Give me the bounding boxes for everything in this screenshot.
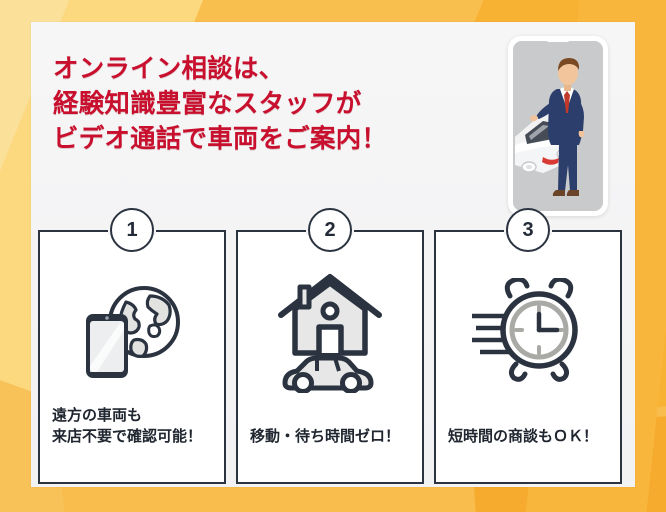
step-number-3: 3: [506, 208, 550, 252]
step-number-3-label: 3: [522, 219, 533, 242]
feature-card-2-text: 移動・待ち時間ゼロ！: [250, 426, 412, 448]
step-number-1: 1: [110, 208, 154, 252]
promo-poster: オンライン相談は、 経験知識豊富なスタッフが ビデオ通話で車両をご案内！: [0, 0, 666, 512]
house-car-icon: [238, 260, 422, 400]
feature-card-1-text: 遠方の車両も 来店不要で確認可能！: [52, 405, 214, 449]
feature-card-2[interactable]: 移動・待ち時間ゼロ！: [236, 230, 424, 484]
step-number-2-label: 2: [324, 219, 335, 242]
car-glyph: [285, 358, 371, 392]
content-panel: オンライン相談は、 経験知識豊富なスタッフが ビデオ通話で車両をご案内！: [31, 22, 635, 487]
feature-card-1[interactable]: 遠方の車両も 来店不要で確認可能！: [38, 230, 226, 484]
globe-smartphone-icon: [40, 260, 224, 400]
step-number-2: 2: [308, 208, 352, 252]
phone-screen: [513, 41, 603, 211]
feature-card-3-text: 短時間の商談もＯＫ！: [448, 426, 610, 448]
house-glyph: [281, 277, 379, 353]
step-number-1-label: 1: [126, 219, 137, 242]
page-title: オンライン相談は、 経験知識豊富なスタッフが ビデオ通話で車両をご案内！: [53, 52, 523, 158]
hero-illustration: [508, 36, 608, 216]
phone-speaker-notch: [547, 39, 569, 42]
feature-card-3[interactable]: 短時間の商談もＯＫ！: [434, 230, 622, 484]
staff-and-car-illustration: [513, 41, 603, 211]
alarm-clock-speed-icon: [436, 260, 620, 400]
